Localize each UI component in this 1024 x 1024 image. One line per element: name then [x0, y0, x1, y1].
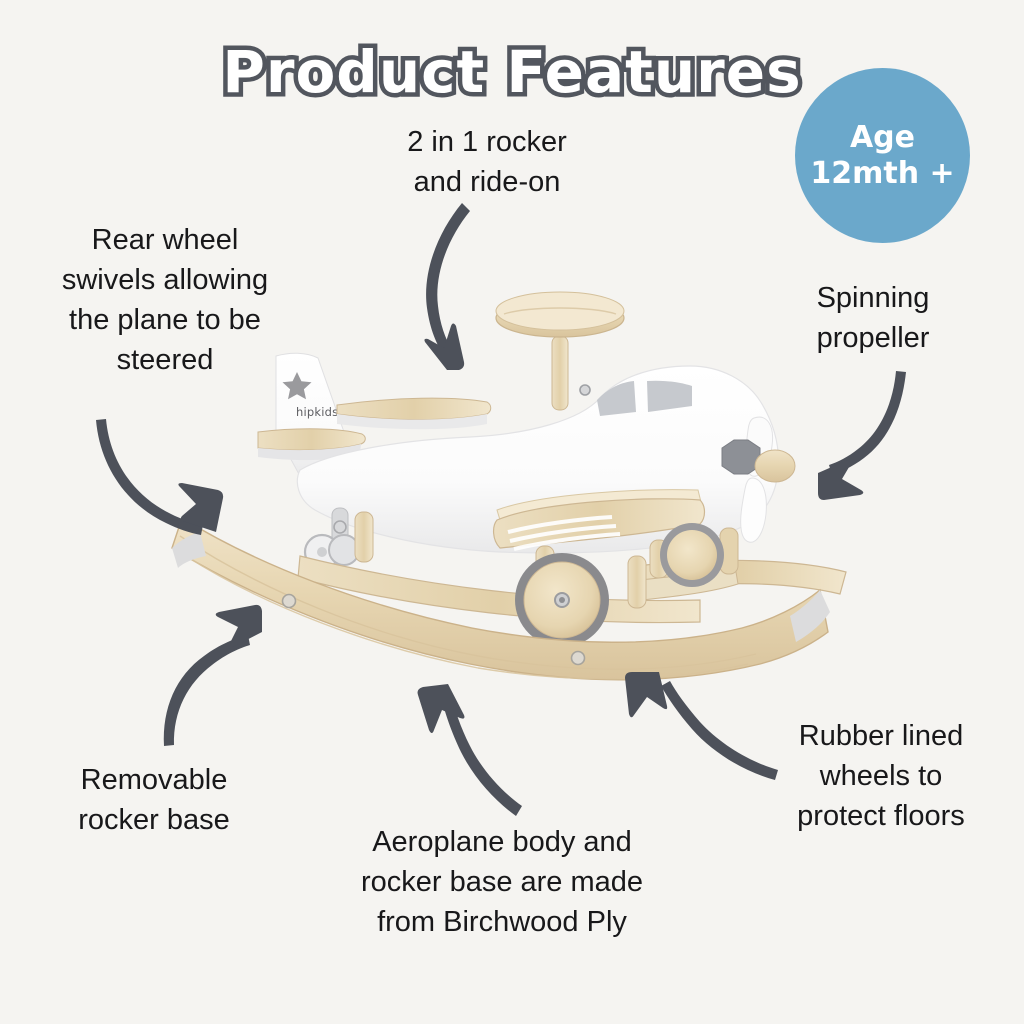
age-badge-line2: 12mth + [810, 156, 954, 191]
arrow-propeller [818, 371, 906, 500]
label-two-in-one: 2 in 1 rocker and ride-on [332, 122, 642, 202]
label-birchwood-ply: Aeroplane body and rocker base are made … [302, 822, 702, 942]
age-badge-line1: Age [850, 120, 915, 155]
label-rubber-wheels: Rubber lined wheels to protect floors [740, 716, 1022, 836]
label-rear-wheel: Rear wheel swivels allowing the plane to… [10, 220, 320, 380]
label-removable-base: Removable rocker base [24, 760, 284, 840]
arrow-removable-base [164, 605, 262, 746]
arrow-rear-wheel [96, 419, 223, 535]
label-spinning-propeller: Spinning propeller [742, 278, 1004, 358]
arrow-birchwood [418, 684, 522, 816]
age-badge: Age 12mth + [795, 68, 970, 243]
infographic-canvas: hipkids [0, 0, 1024, 1024]
arrow-two-in-one [424, 203, 470, 370]
